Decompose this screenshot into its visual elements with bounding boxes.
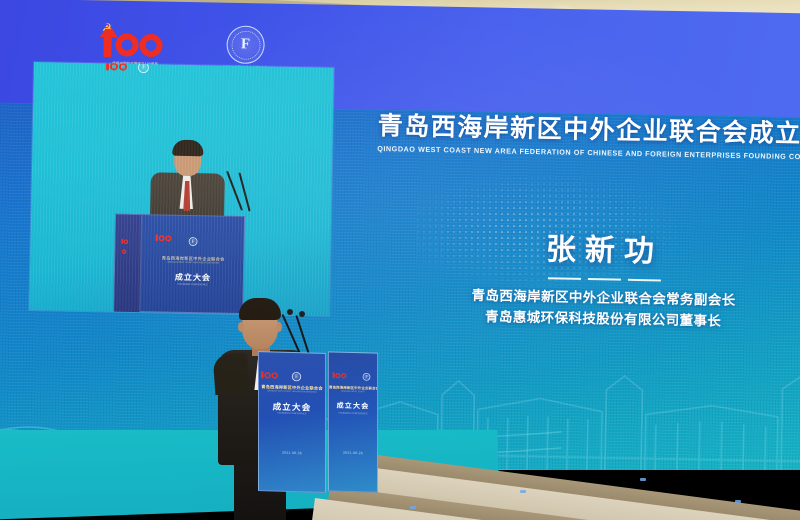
step-marker — [735, 500, 741, 503]
podium-date: 2021.06.26 — [259, 450, 325, 456]
led-video-wall: ☭ 庆祝中国共产党成立100周年 The 100th Anniversary o… — [0, 0, 800, 470]
step-marker — [410, 506, 416, 509]
podium-title-en: QINGDAO WEST COAST — [329, 390, 377, 393]
federation-mark-icon: F — [241, 36, 250, 53]
speaker-shoulder — [213, 353, 250, 395]
speaker-hair — [239, 298, 281, 320]
speaker-name: 张新功 — [429, 222, 780, 273]
stage-floor — [0, 430, 800, 520]
speaker-ear — [238, 322, 244, 332]
federation-logo-small — [138, 62, 149, 73]
speaker-ear — [276, 322, 282, 332]
cpc-centennial-logo: ☭ 庆祝中国共产党成立100周年 The 100th Anniversary o… — [99, 22, 172, 68]
step-marker — [520, 490, 526, 493]
step-marker — [640, 478, 646, 481]
event-title-block: 青岛西海岸新区中外企业联合会成立大会 QINGDAO WEST COAST NE… — [377, 112, 774, 160]
podium-date: 2021.06.26 — [329, 450, 377, 455]
podium-logo-row — [329, 366, 377, 381]
screen-podium-subtitle-en: FOUNDING CONFERENCE — [145, 282, 241, 287]
name-divider — [429, 275, 779, 283]
podium-logo-row — [259, 366, 325, 382]
cpc-centennial-logo-small — [106, 62, 127, 76]
podium: 青岛西海岸新区中外企业联合会 QINGDAO WEST COAST NEW AR… — [258, 352, 386, 492]
podium-subtitle-en: FOUNDING CONFERENCE — [329, 412, 377, 415]
imag-logo-row — [105, 62, 256, 94]
podium-subtitle: 成立大会 — [329, 400, 377, 411]
podium-panel-left: 青岛西海岸新区中外企业联合会 QINGDAO WEST COAST NEW AR… — [258, 351, 326, 493]
conference-photo-scene: ☭ 庆祝中国共产党成立100周年 The 100th Anniversary o… — [0, 0, 800, 520]
speaker-name-block: 张新功 青岛西海岸新区中外企业联合会常务副会长 青岛惠城环保科技股份有限公司董事… — [428, 222, 780, 333]
microphone-head-icon — [299, 311, 305, 317]
live-camera-feed-panel: 青岛西海岸新区中外企业联合会 QINGDAO WEST COAST NEW AR… — [29, 62, 334, 316]
microphone-head-icon — [287, 309, 293, 315]
podium-panel-right: 青岛西海岸新区中外企业联合会 QINGDAO WEST COAST 成立大会 F… — [328, 351, 378, 492]
